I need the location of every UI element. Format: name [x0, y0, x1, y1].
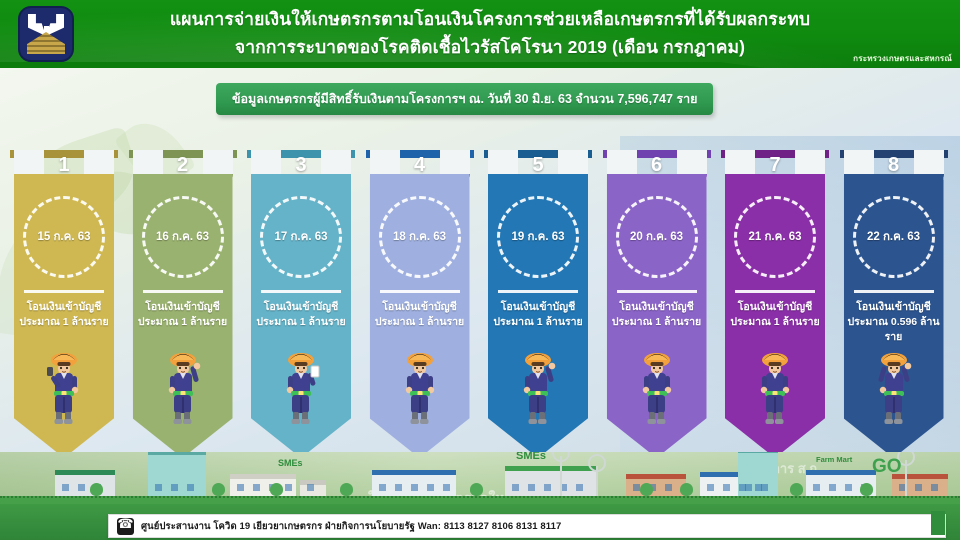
building-window	[171, 484, 178, 491]
banner-date-circle: 21 ก.ค. 63	[734, 196, 816, 278]
banner-caption-line: โอนเงินเข้าบัญชี	[842, 300, 946, 315]
banner-date-text: 21 ก.ค. 63	[748, 228, 801, 246]
building-window	[187, 484, 194, 491]
banner-caption: โอนเงินเข้าบัญชีประมาณ 1 ล้านราย	[723, 300, 827, 330]
banner-date-circle: 17 ก.ค. 63	[260, 196, 342, 278]
eligibility-info-badge: ข้อมูลเกษตรกรผู้มีสิทธิ์รับเงินตามโครงกา…	[216, 83, 713, 115]
banner-date-text: 18 ก.ค. 63	[393, 228, 446, 246]
building-window	[395, 484, 402, 491]
tree-icon	[470, 483, 483, 496]
building-window	[707, 484, 714, 491]
banner-caption-line: โอนเงินเข้าบัญชี	[486, 300, 590, 315]
payment-banner-4[interactable]: 4 18 ก.ค. 63 โอนเงินเข้าบัญชีประมาณ 1 ล้…	[366, 150, 474, 458]
banner-caption-line: ประมาณ 1 ล้านราย	[368, 315, 472, 330]
banner-caption: โอนเงินเข้าบัญชีประมาณ 1 ล้านราย	[249, 300, 353, 330]
building-window	[576, 484, 583, 491]
farmer-character-icon	[754, 346, 796, 432]
banner-step-number: 7	[721, 150, 829, 180]
banner-caption-line: โอนเงินเข้าบัญชี	[131, 300, 235, 315]
payment-banner-7[interactable]: 7 21 ก.ค. 63 โอนเงินเข้าบัญชีประมาณ 1 ล้…	[721, 150, 829, 458]
building-window	[443, 484, 450, 491]
banner-caption-line: ประมาณ 0.596 ล้าน	[842, 315, 946, 330]
payment-banner-1[interactable]: 1 15 ก.ค. 63 โอนเงินเข้าบัญชีประมาณ 1 ล้…	[10, 150, 118, 458]
farmer-character-icon	[399, 346, 441, 432]
payment-schedule-banner-list: 1 15 ก.ค. 63 โอนเงินเข้าบัญชีประมาณ 1 ล้…	[0, 150, 960, 460]
banner-caption-line: ราย	[842, 330, 946, 345]
banner-caption-line: ประมาณ 1 ล้านราย	[723, 315, 827, 330]
smes-building	[505, 466, 597, 496]
go-label: GO	[872, 456, 902, 478]
building-window	[723, 484, 730, 491]
banner-caption-line: โอนเงินเข้าบัญชี	[723, 300, 827, 315]
building-window	[253, 484, 260, 491]
building-window	[544, 484, 551, 491]
banner-date-text: 15 ก.ค. 63	[37, 228, 90, 246]
building-window	[512, 484, 519, 491]
payment-banner-3[interactable]: 3 17 ก.ค. 63 โอนเงินเข้าบัญชีประมาณ 1 ล้…	[247, 150, 355, 458]
banner-step-number: 4	[366, 150, 474, 180]
banner-date-circle: 18 ก.ค. 63	[379, 196, 461, 278]
banner-date-circle: 22 ก.ค. 63	[853, 196, 935, 278]
building-window	[62, 484, 69, 491]
payment-banner-5[interactable]: 5 19 ก.ค. 63 โอนเงินเข้าบัญชีประมาณ 1 ล้…	[484, 150, 592, 458]
wind-turbine-blades-icon	[588, 454, 606, 472]
building-window	[813, 484, 820, 491]
banner-date-circle: 16 ก.ค. 63	[142, 196, 224, 278]
tree-icon	[340, 483, 353, 496]
banner-step-number: 2	[129, 150, 237, 180]
building-window	[285, 484, 292, 491]
payment-banner-6[interactable]: 6 20 ก.ค. 63 โอนเงินเข้าบัญชีประมาณ 1 ล้…	[603, 150, 711, 458]
tree-icon	[212, 483, 225, 496]
tree-icon	[270, 483, 283, 496]
building-window	[745, 484, 752, 491]
banner-caption-line: ประมาณ 1 ล้านราย	[131, 315, 235, 330]
logo-emblem-base	[27, 32, 65, 54]
building-window	[915, 484, 922, 491]
building-window	[931, 484, 938, 491]
farmer-character-icon	[280, 346, 322, 432]
banner-divider	[261, 290, 341, 293]
banner-step-number: 8	[840, 150, 948, 180]
banner-divider	[380, 290, 460, 293]
building-window	[845, 484, 852, 491]
payment-banner-2[interactable]: 2 16 ก.ค. 63 โอนเงินเข้าบัญชีประมาณ 1 ล้…	[129, 150, 237, 458]
page-title-line-2: จากการระบาดของโรคติดเชื้อไวรัสโคโรนา 201…	[140, 33, 840, 61]
page-header: แผนการจ่ายเงินให้เกษตรกรตามโอนเงินโครงกา…	[0, 0, 960, 68]
building-window	[633, 484, 640, 491]
contact-footer-bar: ศูนย์ประสานงาน โควิด 19 เยียวยาเกษตรกร ฝ…	[108, 514, 946, 538]
banner-caption-line: โอนเงินเข้าบัญชี	[605, 300, 709, 315]
building-window	[829, 484, 836, 491]
market-building	[372, 470, 456, 496]
page-title: แผนการจ่ายเงินให้เกษตรกรตามโอนเงินโครงกา…	[140, 5, 840, 61]
banner-date-text: 16 ก.ค. 63	[156, 228, 209, 246]
banner-divider	[735, 290, 815, 293]
tree-icon	[680, 483, 693, 496]
banner-date-circle: 19 ก.ค. 63	[497, 196, 579, 278]
banner-step-number: 5	[484, 150, 592, 180]
banner-caption: โอนเงินเข้าบัญชีประมาณ 1 ล้านราย	[605, 300, 709, 330]
banner-divider	[143, 290, 223, 293]
banner-step-number: 1	[10, 150, 118, 180]
banner-divider	[854, 290, 934, 293]
banner-caption-line: โอนเงินเข้าบัญชี	[249, 300, 353, 315]
banner-caption-line: โอนเงินเข้าบัญชี	[368, 300, 472, 315]
banner-divider	[498, 290, 578, 293]
farmer-character-icon	[43, 346, 85, 432]
banner-caption: โอนเงินเข้าบัญชีประมาณ 0.596 ล้านราย	[842, 300, 946, 345]
banner-date-text: 19 ก.ค. 63	[511, 228, 564, 246]
banner-caption-line: ประมาณ 1 ล้านราย	[486, 315, 590, 330]
farmer-character-icon	[162, 346, 204, 432]
banner-caption-line: โอนเงินเข้าบัญชี	[12, 300, 116, 315]
banner-date-circle: 20 ก.ค. 63	[616, 196, 698, 278]
tree-icon	[860, 483, 873, 496]
tree-icon	[790, 483, 803, 496]
banner-caption-line: ประมาณ 1 ล้านราย	[605, 315, 709, 330]
banner-caption: โอนเงินเข้าบัญชีประมาณ 1 ล้านราย	[368, 300, 472, 330]
smes-label: SMEs	[278, 458, 303, 468]
banner-step-number: 6	[603, 150, 711, 180]
farmer-character-icon	[636, 346, 678, 432]
farmer-character-icon	[517, 346, 559, 432]
payment-banner-8[interactable]: 8 22 ก.ค. 63 โอนเงินเข้าบัญชีประมาณ 0.59…	[840, 150, 948, 458]
banner-step-number: 3	[247, 150, 355, 180]
building-window	[237, 484, 244, 491]
banner-divider	[617, 290, 697, 293]
contact-footer-text: ศูนย์ประสานงาน โควิด 19 เยียวยาเกษตรกร ฝ…	[141, 519, 561, 534]
tree-icon	[90, 483, 103, 496]
building-window	[427, 484, 434, 491]
building-window	[78, 484, 85, 491]
building-window	[665, 484, 672, 491]
page-title-line-1: แผนการจ่ายเงินให้เกษตรกรตามโอนเงินโครงกา…	[140, 5, 840, 33]
banner-date-text: 20 ก.ค. 63	[630, 228, 683, 246]
eligibility-info-text: ข้อมูลเกษตรกรผู้มีสิทธิ์รับเงินตามโครงกา…	[232, 89, 697, 109]
farmer-character-icon	[873, 346, 915, 432]
tree-icon	[640, 483, 653, 496]
banner-date-text: 22 ก.ค. 63	[867, 228, 920, 246]
phone-icon	[117, 518, 134, 535]
smes-label: SMEs	[516, 452, 546, 462]
wind-turbine-icon	[560, 456, 562, 496]
infographic-root: แผนการจ่ายเงินให้เกษตรกรตามโอนเงินโครงกา…	[0, 0, 960, 540]
banner-date-text: 17 ก.ค. 63	[274, 228, 327, 246]
footer-accent-tip	[931, 511, 945, 535]
banner-caption: โอนเงินเข้าบัญชีประมาณ 1 ล้านราย	[131, 300, 235, 330]
farm-mart-label: Farm Mart	[816, 455, 852, 464]
building-window	[528, 484, 535, 491]
building-window	[379, 484, 386, 491]
banner-caption: โอนเงินเข้าบัญชีประมาณ 1 ล้านราย	[12, 300, 116, 330]
building-window	[411, 484, 418, 491]
banner-caption-line: ประมาณ 1 ล้านราย	[12, 315, 116, 330]
building-window	[155, 484, 162, 491]
banner-date-circle: 15 ก.ค. 63	[23, 196, 105, 278]
ministry-name-tag: กระทรวงเกษตรและสหกรณ์	[853, 52, 952, 65]
banner-caption: โอนเงินเข้าบัญชีประมาณ 1 ล้านราย	[486, 300, 590, 330]
ministry-of-agriculture-logo	[18, 6, 74, 62]
banner-caption-line: ประมาณ 1 ล้านราย	[249, 315, 353, 330]
shop-building	[55, 470, 115, 496]
banner-divider	[24, 290, 104, 293]
building-window	[307, 484, 314, 491]
city-landscape-illustration: ให้เยาวชนเกษตรยุคใหม่ การ ส.ก. SMEsSMEsF…	[0, 452, 960, 540]
building-window	[761, 484, 768, 491]
